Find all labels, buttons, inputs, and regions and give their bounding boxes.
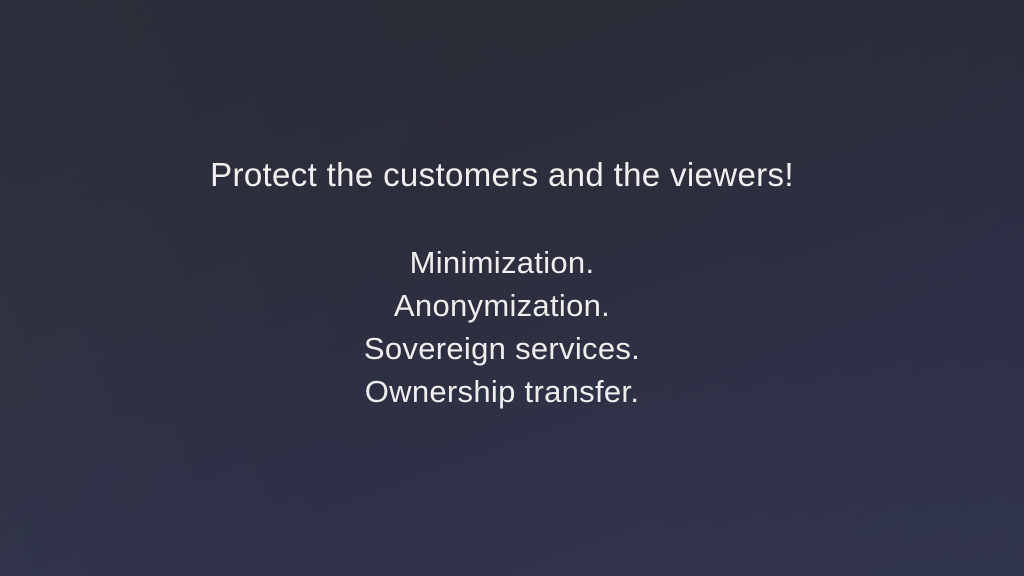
- slide-headline: Protect the customers and the viewers!: [210, 156, 794, 195]
- slide-content: Protect the customers and the viewers! M…: [0, 0, 1004, 576]
- slide-bullet-anonymization: Anonymization.: [394, 284, 610, 327]
- slide-bullet-sovereign-services: Sovereign services.: [364, 327, 640, 370]
- slide-bullet-ownership-transfer: Ownership transfer.: [365, 370, 639, 413]
- slide-bullet-list: Minimization. Anonymization. Sovereign s…: [364, 241, 640, 413]
- slide-bullet-minimization: Minimization.: [410, 241, 595, 284]
- presentation-slide: Protect the customers and the viewers! M…: [0, 0, 1024, 576]
